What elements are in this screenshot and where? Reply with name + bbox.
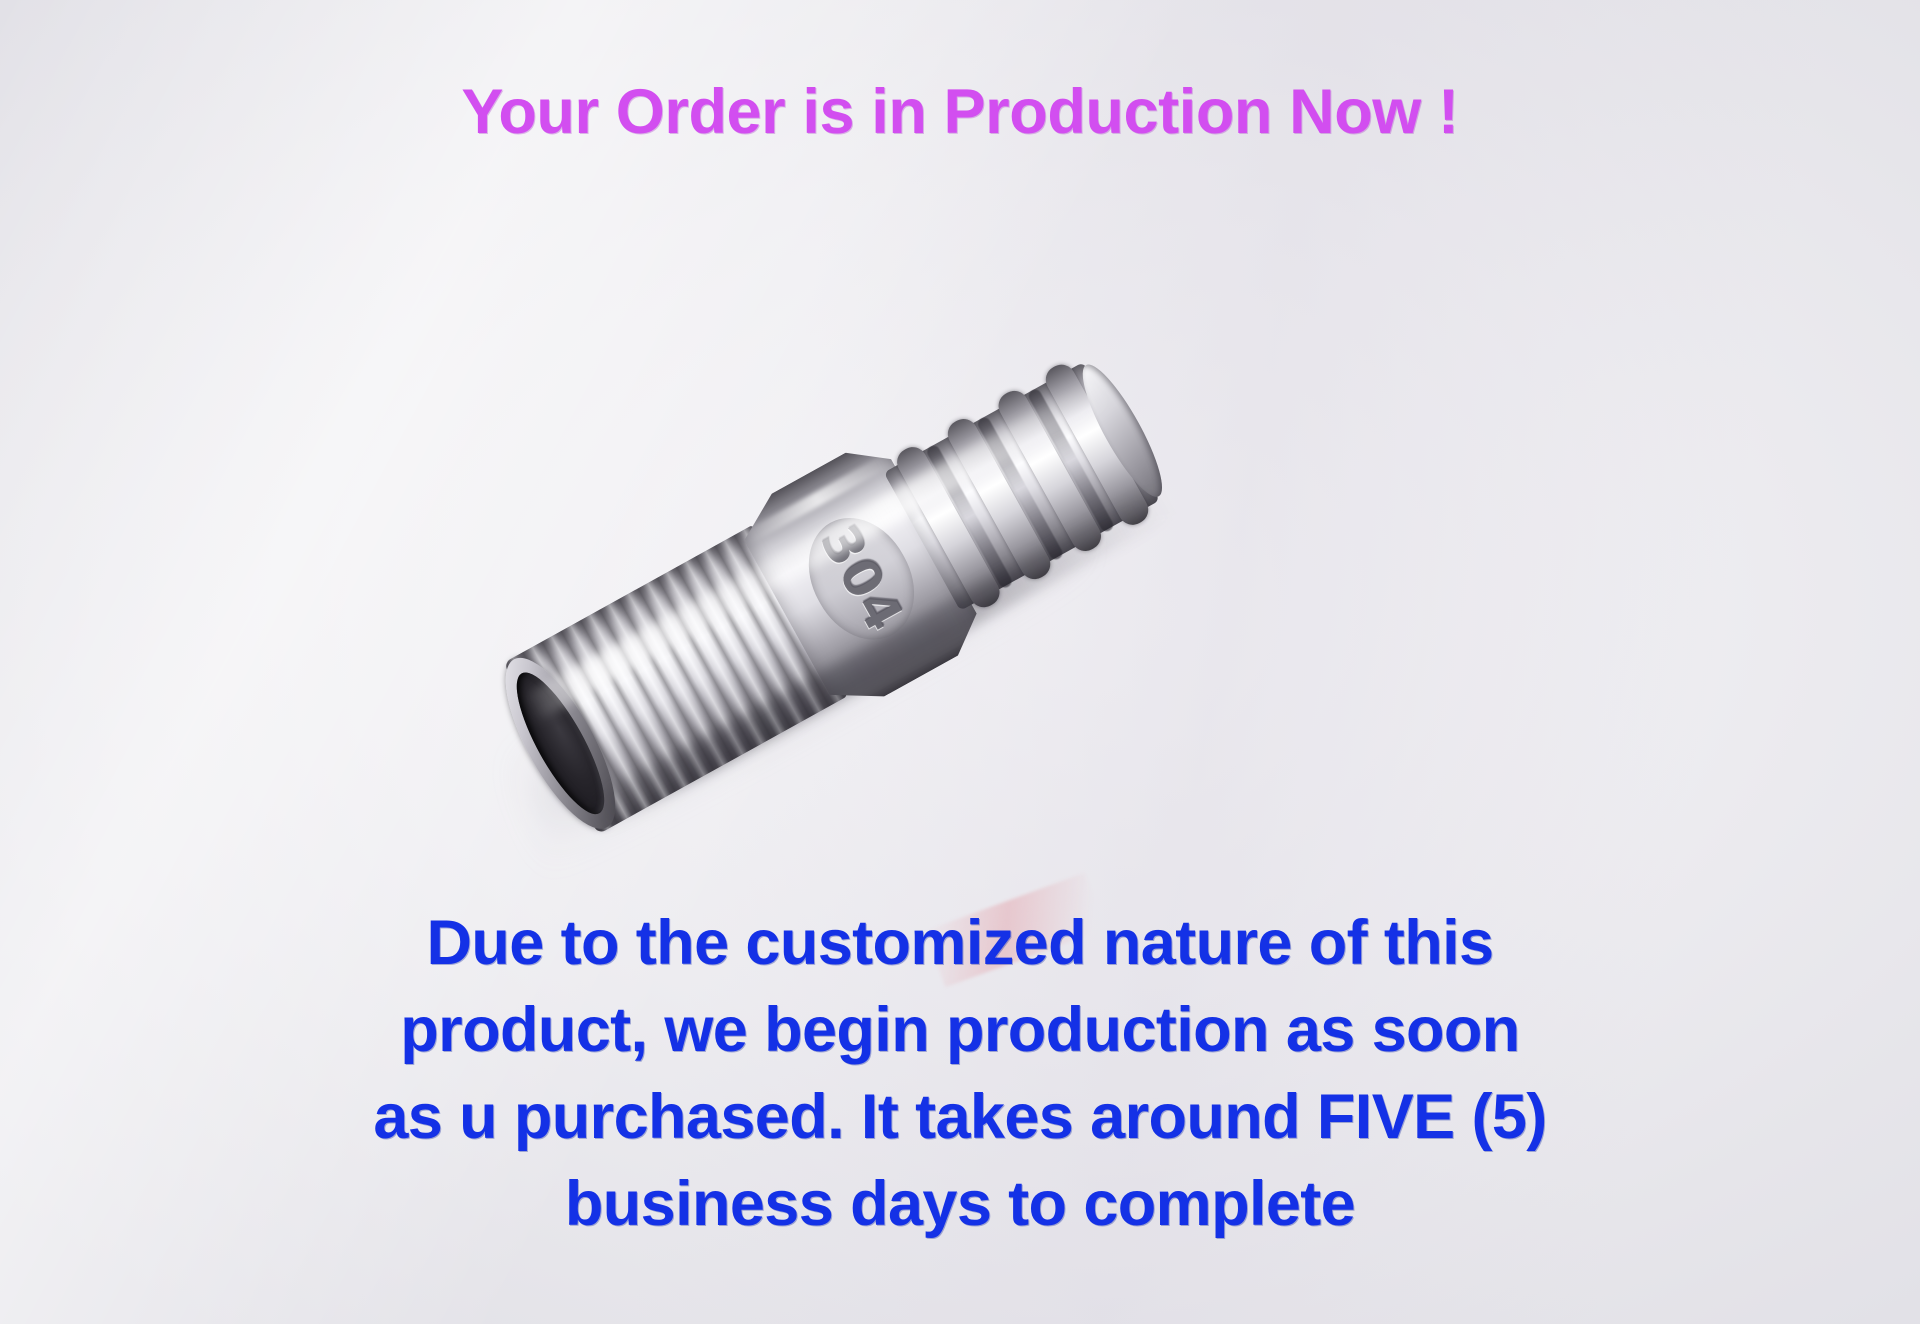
- promo-banner: Your Order is in Production Now ! 304: [0, 0, 1920, 1324]
- body-line-3: as u purchased. It takes around FIVE (5): [0, 1074, 1920, 1161]
- body-line-2: product, we begin production as soon: [0, 987, 1920, 1074]
- product-photo-hose-barb-fitting: 304: [470, 300, 1170, 730]
- fitting-assembly: 304: [356, 119, 1177, 834]
- body-line-4: business days to complete: [0, 1161, 1920, 1248]
- body-line-1: Due to the customized nature of this: [0, 900, 1920, 987]
- production-time-notice: Due to the customized nature of this pro…: [0, 900, 1920, 1248]
